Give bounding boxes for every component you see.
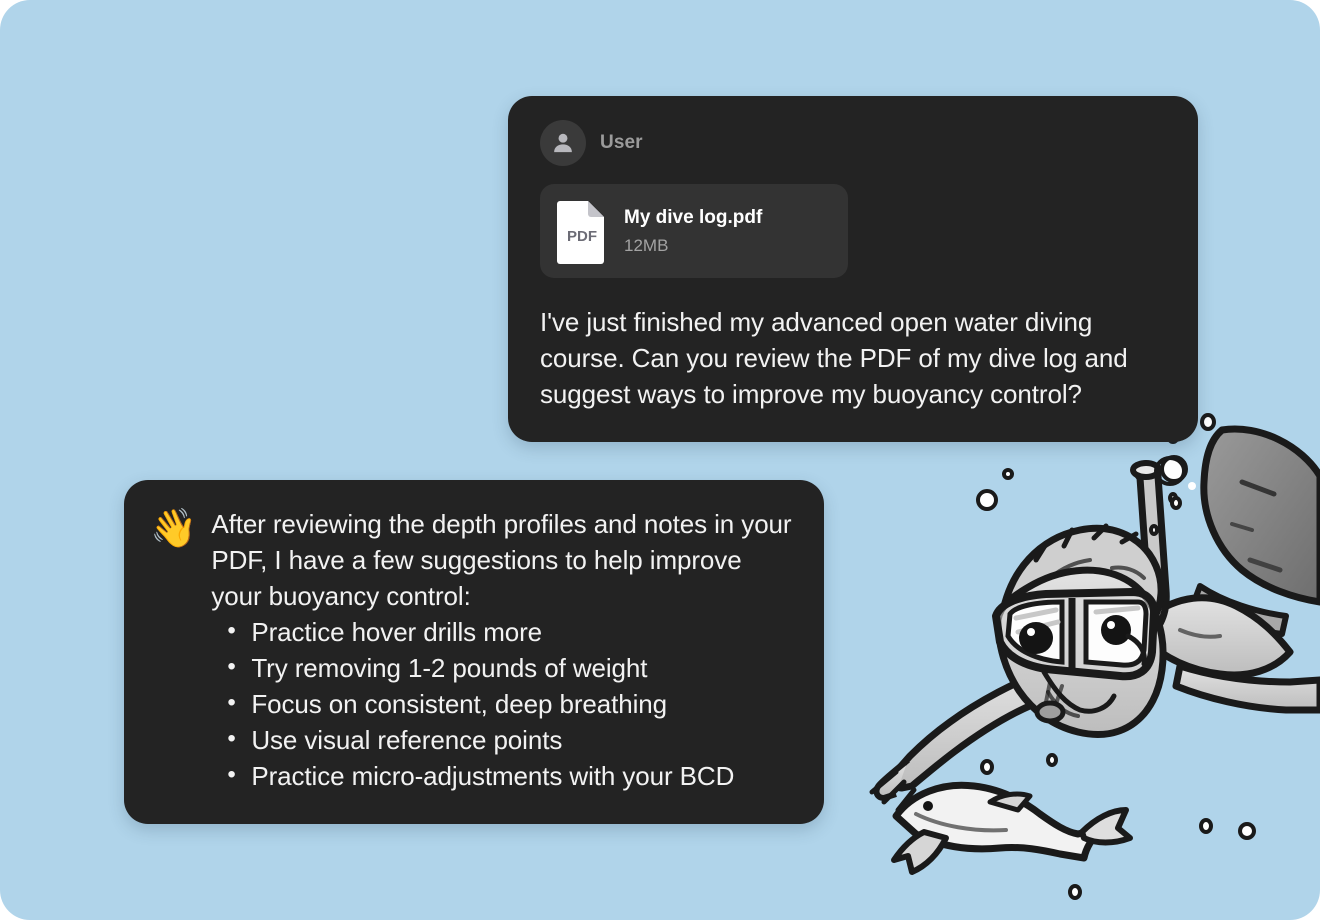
assistant-intro-text: After reviewing the depth profiles and n…: [211, 506, 794, 614]
snorkeler-head: [996, 526, 1163, 734]
snorkel-tube: [1132, 463, 1166, 642]
suggestion-item: Focus on consistent, deep breathing: [227, 686, 794, 722]
suggestion-item: Try removing 1-2 pounds of weight: [227, 650, 794, 686]
assistant-message-bubble: 👋 After reviewing the depth profiles and…: [124, 480, 824, 824]
svg-text:PDF: PDF: [567, 228, 597, 245]
right-eye: [1101, 615, 1131, 645]
suggestion-list: Practice hover drills moreTry removing 1…: [211, 614, 794, 794]
pdf-attachment-card[interactable]: PDF My dive log.pdf 12MB: [540, 184, 848, 278]
chat-scene: User PDF My dive log.pdf 12MB I've just …: [0, 0, 1320, 920]
attachment-file-size: 12MB: [624, 236, 762, 256]
user-header: User: [540, 120, 1162, 166]
left-eye: [1019, 622, 1053, 654]
user-name-label: User: [600, 132, 643, 154]
waving-hand-icon: 👋: [150, 508, 197, 548]
left-arm: [872, 670, 1050, 810]
right-arm: [1176, 666, 1320, 710]
fish-eye: [923, 801, 933, 811]
suggestion-item: Practice micro-adjustments with your BCD: [227, 758, 794, 794]
assistant-message-body: After reviewing the depth profiles and n…: [211, 506, 794, 794]
attachment-file-name: My dive log.pdf: [624, 207, 762, 229]
user-message-text: I've just finished my advanced open wate…: [540, 304, 1162, 412]
torso: [1146, 598, 1290, 675]
person-avatar-icon: [540, 120, 586, 166]
snorkeler-illustration: [850, 420, 1320, 920]
pdf-file-icon: PDF: [556, 198, 608, 264]
suggestion-item: Use visual reference points: [227, 722, 794, 758]
attachment-meta: My dive log.pdf 12MB: [624, 207, 762, 256]
user-message-bubble: User PDF My dive log.pdf 12MB I've just …: [508, 96, 1198, 442]
fish: [894, 785, 1130, 872]
wetsuit-shorts: [1194, 429, 1320, 634]
suggestion-item: Practice hover drills more: [227, 614, 794, 650]
